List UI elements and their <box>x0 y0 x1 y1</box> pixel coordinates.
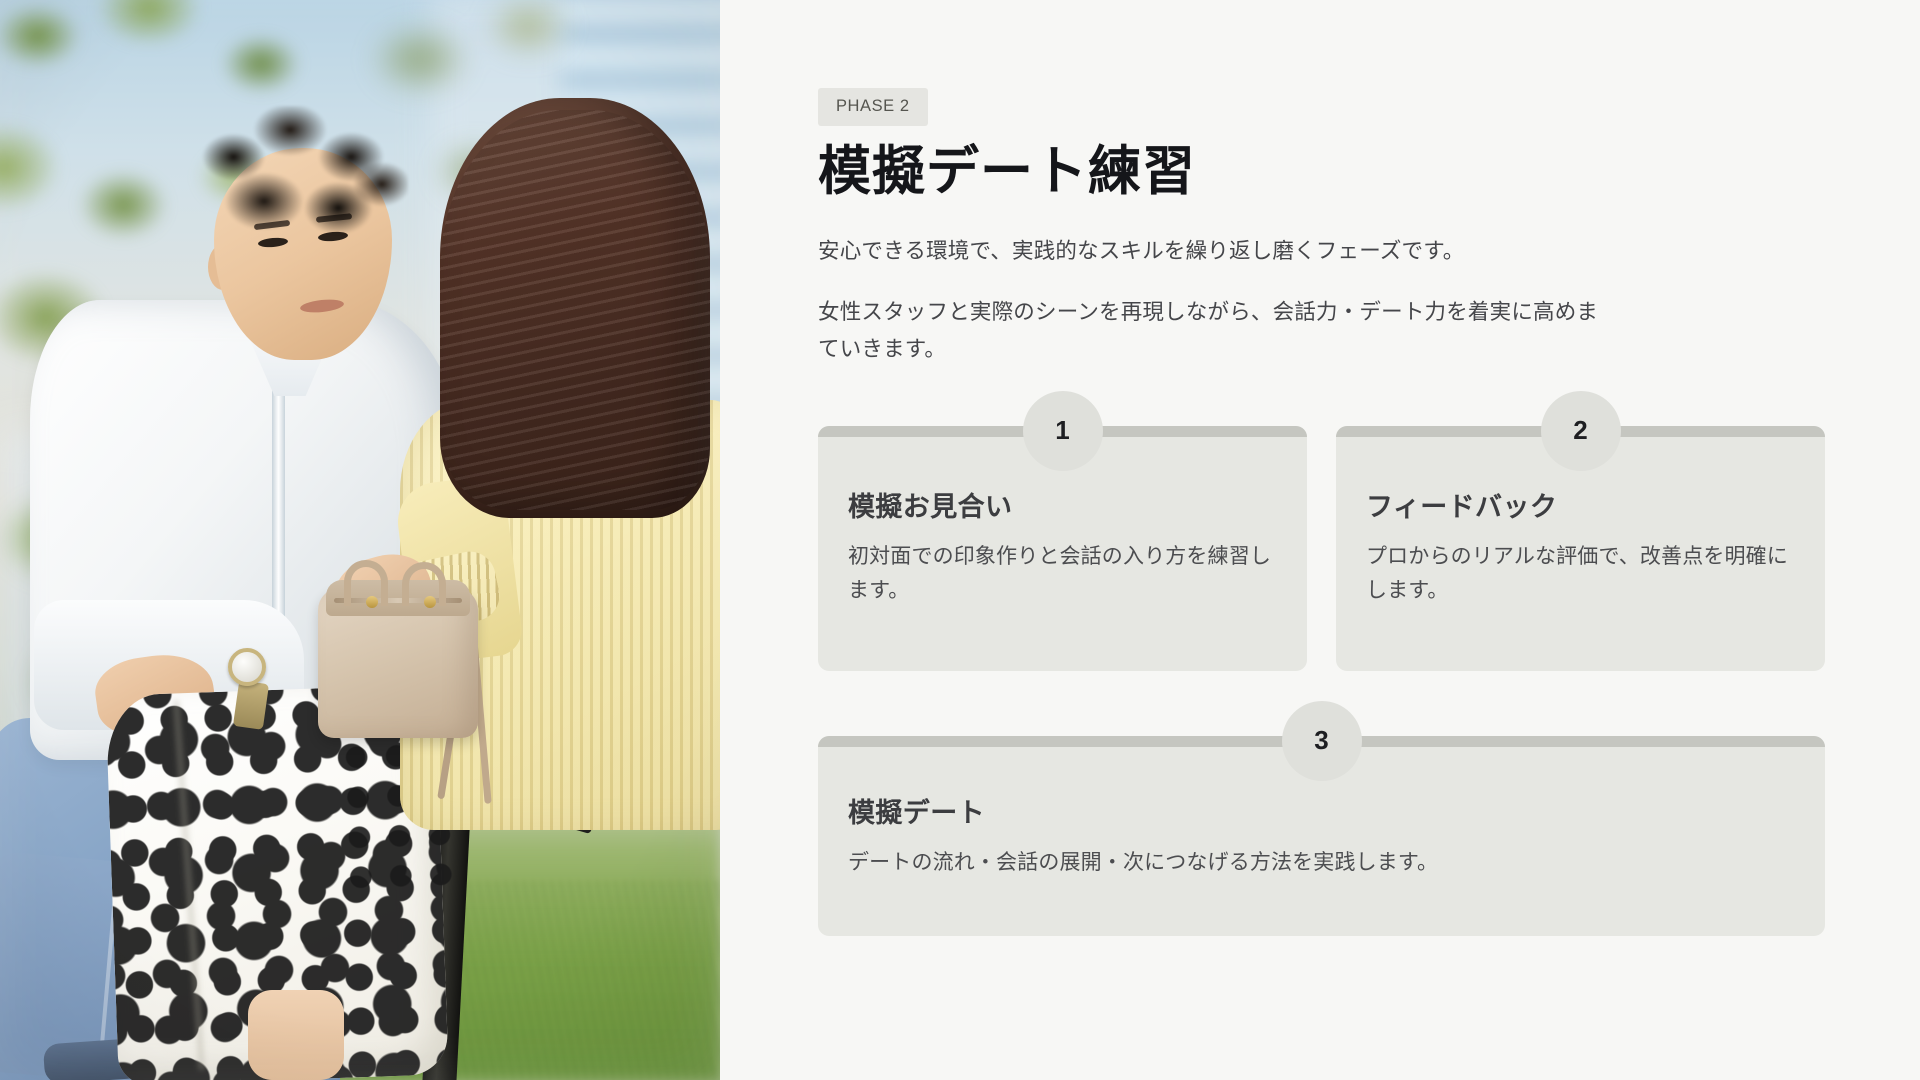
photo-soft-focus-overlay <box>0 0 720 1080</box>
step-card-1-title: 模擬お見合い <box>848 490 1277 525</box>
lead-paragraph-2-line-2: ていきます。 <box>818 331 1823 368</box>
phase-badge: PHASE 2 <box>818 88 928 126</box>
step-card-1[interactable]: 1 模擬お見合い 初対面での印象作りと会話の入り方を練習します。 <box>818 426 1307 671</box>
step-card-2-title: フィードバック <box>1366 490 1795 525</box>
step-card-3[interactable]: 3 模擬デート デートの流れ・会話の展開・次につなげる方法を実践します。 <box>818 736 1825 936</box>
step-card-3-title: 模擬デート <box>848 796 1795 831</box>
step-card-grid: 1 模擬お見合い 初対面での印象作りと会話の入り方を練習します。 2 フィードバ… <box>818 426 1823 936</box>
lead-paragraph-2: 女性スタッフと実際のシーンを再現しながら、会話力・デート力を着実に高めま ていき… <box>818 294 1823 368</box>
content-panel: PHASE 2 模擬デート練習 安心できる環境で、実践的なスキルを繰り返し磨くフ… <box>720 0 1920 1080</box>
step-card-3-number-badge: 3 <box>1282 701 1362 781</box>
step-card-1-description: 初対面での印象作りと会話の入り方を練習します。 <box>848 540 1277 608</box>
lead-paragraph-2-line-1: 女性スタッフと実際のシーンを再現しながら、会話力・デート力を着実に高めま <box>818 294 1823 331</box>
step-card-2[interactable]: 2 フィードバック プロからのリアルな評価で、改善点を明確にします。 <box>1336 426 1825 671</box>
step-card-2-description: プロからのリアルな評価で、改善点を明確にします。 <box>1366 540 1795 608</box>
step-card-3-description: デートの流れ・会話の展開・次につなげる方法を実践します。 <box>848 846 1795 880</box>
step-card-1-number-badge: 1 <box>1023 391 1103 471</box>
page-title: 模擬デート練習 <box>818 142 1823 201</box>
lead-paragraph-1: 安心できる環境で、実践的なスキルを繰り返し磨くフェーズです。 <box>818 233 1823 270</box>
step-card-2-number-badge: 2 <box>1541 391 1621 471</box>
hero-photo <box>0 0 720 1080</box>
page-root: PHASE 2 模擬デート練習 安心できる環境で、実践的なスキルを繰り返し磨くフ… <box>0 0 1920 1080</box>
content-inner: PHASE 2 模擬デート練習 安心できる環境で、実践的なスキルを繰り返し磨くフ… <box>818 0 1823 936</box>
